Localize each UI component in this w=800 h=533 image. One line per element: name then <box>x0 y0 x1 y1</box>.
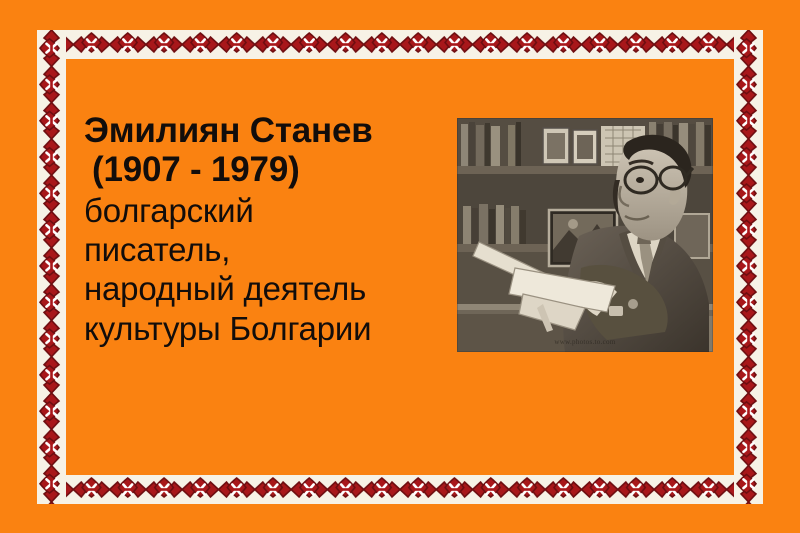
photo-watermark: www.photos.to.com <box>457 338 713 346</box>
portrait-photo: www.photos.to.com <box>457 118 713 352</box>
embroidery-pattern-icon <box>37 30 763 59</box>
description-line-1: болгарский <box>84 193 464 228</box>
caption-text-block: Эмилиян Станев (1907 - 1979) болгарский … <box>84 112 464 350</box>
frame-band-left <box>37 30 66 504</box>
frame-band-bottom <box>37 475 763 504</box>
portrait-photo-graphic <box>457 118 713 352</box>
person-name: Эмилиян Станев <box>84 112 464 149</box>
description-line-3: народный деятель <box>84 271 464 306</box>
slide-canvas: Эмилиян Станев (1907 - 1979) болгарский … <box>0 0 800 533</box>
frame-band-top <box>37 30 763 59</box>
embroidery-pattern-icon <box>37 475 763 504</box>
embroidery-pattern-icon <box>734 30 763 504</box>
description-line-4: культуры Болгарии <box>84 311 464 346</box>
description-line-2: писатель, <box>84 232 464 267</box>
embroidery-pattern-icon <box>37 30 66 504</box>
person-life-dates: (1907 - 1979) <box>84 151 464 188</box>
frame-band-right <box>734 30 763 504</box>
